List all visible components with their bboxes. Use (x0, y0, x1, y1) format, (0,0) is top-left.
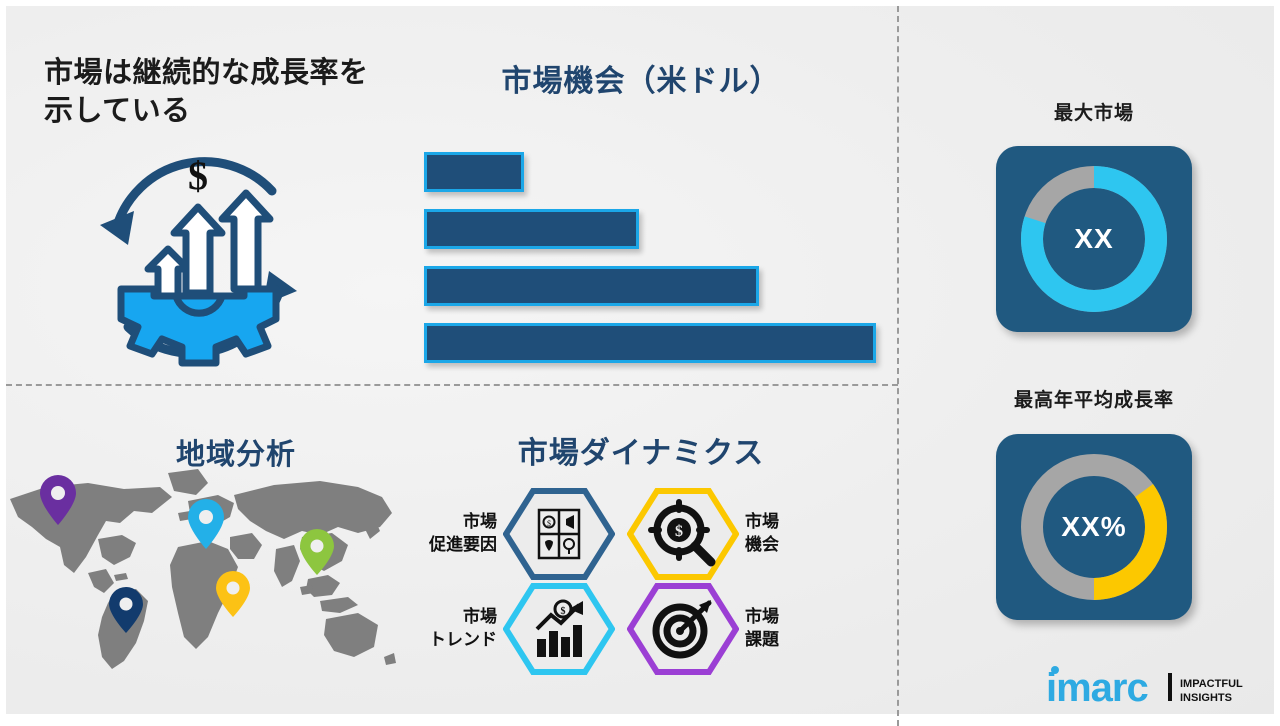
donut-1-title: 最大市場 (954, 98, 1234, 125)
opportunity-panel-title: 市場機会（米ドル） (406, 56, 876, 100)
pin-north-america (40, 475, 76, 525)
donut-2-center-label: XX% (996, 434, 1192, 620)
dynamics-item-label: 市場 促進要因 (411, 511, 497, 555)
donut-1-center-label: XX (996, 146, 1192, 332)
dynamics-item-drivers[interactable]: 市場 促進要因 $ (411, 488, 621, 580)
logo-wordmark: imarc (1046, 666, 1148, 709)
donut-2-card: XX% (996, 434, 1192, 620)
gear-growth-arrows-dollar-icon: $ (76, 141, 321, 376)
bar-row (424, 209, 884, 249)
bar-row (424, 152, 884, 192)
logo-tagline-line1: IMPACTFUL (1180, 678, 1243, 690)
dynamics-item-challenges[interactable]: 市場 課題 (621, 583, 831, 675)
market-opportunity-bar-chart (424, 152, 884, 352)
logo-separator (1168, 673, 1172, 701)
pin-africa (216, 571, 250, 617)
map-pins-layer (2, 461, 402, 696)
imarc-logo: imarc IMPACTFUL INSIGHTS (1046, 661, 1261, 709)
logo-tagline-line2: INSIGHTS (1180, 692, 1232, 704)
bar-row (424, 266, 884, 306)
growth-panel-title: 市場は継続的な成長率を示している (44, 54, 394, 131)
svg-text:$: $ (675, 523, 683, 540)
donut-2-title: 最高年平均成長率 (954, 385, 1234, 412)
dynamics-item-label: 市場 機会 (745, 511, 831, 555)
bar-segment (424, 266, 759, 306)
vertical-divider (897, 6, 899, 726)
bar-segment (424, 209, 639, 249)
dynamics-item-trends[interactable]: 市場 トレンド $ (411, 583, 621, 675)
dynamics-panel-title: 市場ダイナミクス (406, 428, 876, 472)
dynamics-item-label: 市場 課題 (745, 606, 831, 650)
target-arrow-icon (627, 583, 739, 675)
pin-south-america (109, 587, 143, 633)
svg-text:$: $ (561, 606, 566, 617)
bar-row (424, 323, 884, 363)
pin-asia (300, 529, 334, 575)
horizontal-divider (6, 384, 898, 386)
bar-chart-growth-dollar-icon: $ (503, 583, 615, 675)
donut-1-card: XX (996, 146, 1192, 332)
pin-europe (188, 499, 224, 549)
svg-text:$: $ (547, 519, 551, 528)
svg-text:$: $ (188, 153, 208, 198)
market-dynamics-grid: 市場 促進要因 $ (411, 486, 871, 686)
puzzle-pieces-icon: $ (503, 488, 615, 580)
dynamics-item-opportunities[interactable]: $ 市場 機会 (621, 488, 831, 580)
bar-segment (424, 323, 876, 363)
bar-segment (424, 152, 524, 192)
magnifier-dollar-icon: $ (627, 488, 739, 580)
slide-canvas: 市場は継続的な成長率を示している $ 市場機会（米ド (0, 0, 1280, 720)
dynamics-item-label: 市場 トレンド (411, 606, 497, 650)
